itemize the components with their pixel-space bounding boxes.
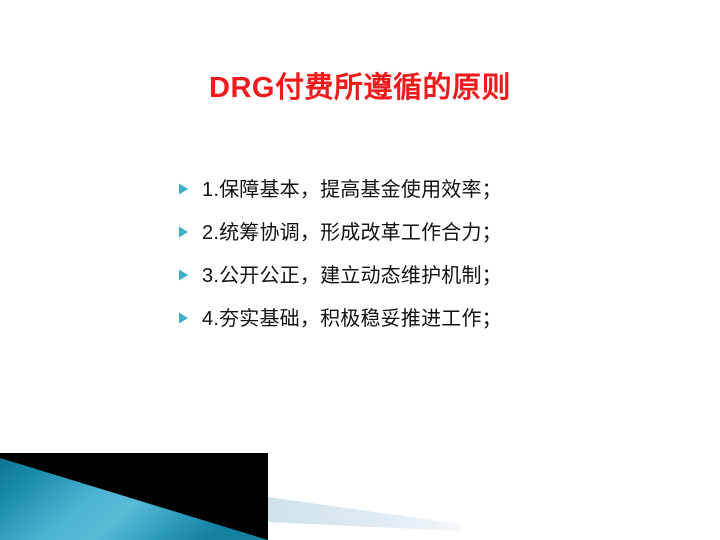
- teal-gradient-wedge: [0, 458, 268, 540]
- list-item-text: 4.夯实基础，积极稳妥推进工作；: [202, 303, 648, 333]
- bullet-list: 1.保障基本，提高基金使用效率； 2.统筹协调，形成改革工作合力； 3.公开公正…: [178, 174, 648, 346]
- triangle-right-icon: [178, 174, 202, 195]
- list-item: 1.保障基本，提高基金使用效率；: [178, 174, 648, 217]
- list-item-text: 2.统筹协调，形成改革工作合力；: [202, 217, 648, 247]
- triangle-right-icon: [178, 217, 202, 238]
- list-item-text: 3.公开公正，建立动态维护机制；: [202, 260, 648, 290]
- list-item: 3.公开公正，建立动态维护机制；: [178, 260, 648, 303]
- slide-title-text: DRG付费所遵循的原则: [209, 72, 511, 105]
- slide-title: DRG付费所遵循的原则: [0, 72, 720, 105]
- black-angle-shape: [0, 453, 268, 540]
- triangle-right-icon: [178, 303, 202, 324]
- slide-canvas: DRG付费所遵循的原则 1.保障基本，提高基金使用效率； 2.统筹协调，形成改革…: [0, 0, 720, 540]
- triangle-right-icon: [178, 260, 202, 281]
- list-item: 2.统筹协调，形成改革工作合力；: [178, 217, 648, 260]
- list-item-text: 1.保障基本，提高基金使用效率；: [202, 174, 648, 204]
- list-item: 4.夯实基础，积极稳妥推进工作；: [178, 303, 648, 346]
- pale-blue-band: [268, 497, 460, 531]
